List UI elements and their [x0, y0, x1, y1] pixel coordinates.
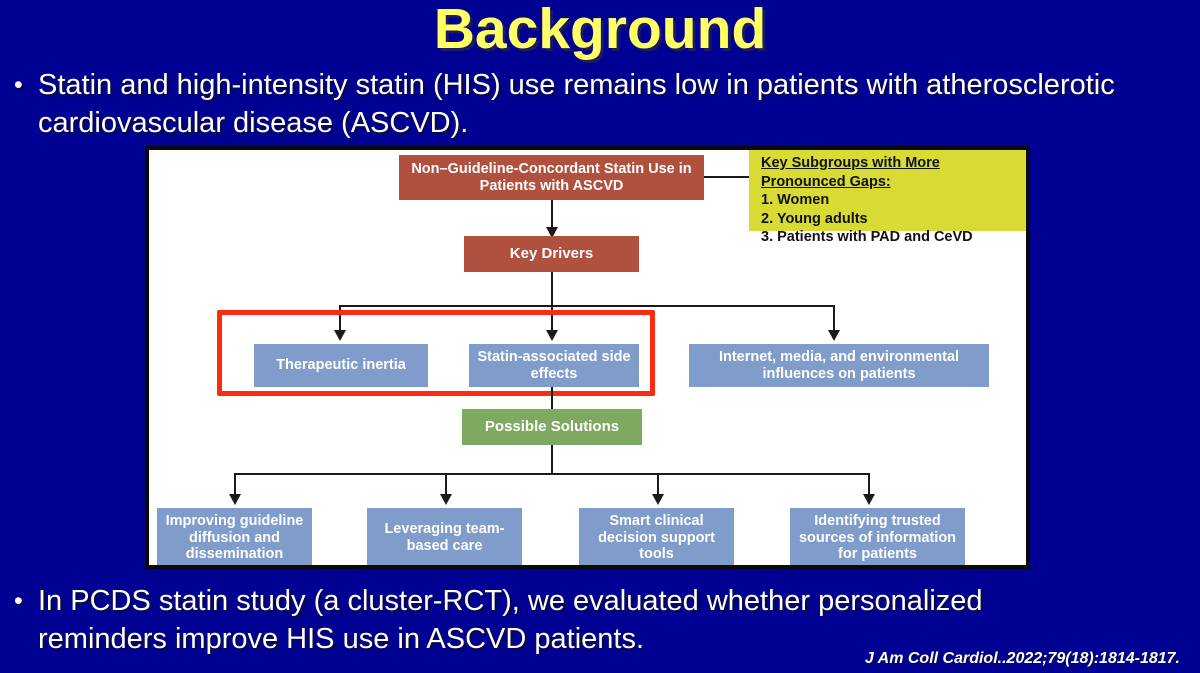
connector-solutions-bus [234, 473, 870, 475]
diagram-node-solution-1: Improving guideline diffusion and dissem… [157, 508, 312, 568]
diagram-panel: Non–Guideline-Concordant Statin Use in P… [145, 146, 1030, 569]
key-subgroups-item-2: 2. Young adults [761, 211, 868, 227]
arrow-solution-4 [863, 494, 875, 505]
bullet-text: Statin and high-intensity statin (HIS) u… [38, 66, 1194, 142]
diagram-node-key-drivers: Key Drivers [464, 236, 639, 272]
key-subgroups-heading: Key Subgroups with More Pronounced Gaps: [761, 154, 1025, 191]
connector-solutions-stem [551, 445, 553, 475]
diagram-node-key-subgroups: Key Subgroups with More Pronounced Gaps:… [749, 149, 1029, 231]
arrow-solution-3 [652, 494, 664, 505]
connector-key-drivers-stem [551, 272, 553, 307]
bullet-text: In PCDS statin study (a cluster-RCT), we… [38, 582, 1104, 658]
connector-drivers-bus [339, 305, 834, 307]
key-subgroups-item-3: 3. Patients with PAD and CeVD [761, 229, 973, 245]
diagram-node-solution-2: Leveraging team-based care [367, 508, 522, 568]
connector-root-to-sidebox [704, 176, 749, 178]
diagram-node-driver-2: Statin-associated side effects [469, 344, 639, 387]
diagram-node-driver-1: Therapeutic inertia [254, 344, 428, 387]
arrow-solution-2 [440, 494, 452, 505]
key-subgroups-item-1: 1. Women [761, 192, 829, 208]
diagram-node-solution-3: Smart clinical decision support tools [579, 508, 734, 568]
page-title: Background [0, 0, 1200, 62]
bullet-marker: • [4, 582, 38, 620]
diagram-node-root: Non–Guideline-Concordant Statin Use in P… [399, 155, 704, 200]
diagram-node-driver-3: Internet, media, and environmental influ… [689, 344, 989, 387]
bullet-item-2: • In PCDS statin study (a cluster-RCT), … [4, 582, 1104, 658]
citation-text: J Am Coll Cardiol..2022;79(18):1814-1817… [0, 650, 1180, 668]
bullet-marker: • [4, 66, 38, 104]
arrow-driver-3 [828, 330, 840, 341]
diagram-node-possible-solutions: Possible Solutions [462, 409, 642, 445]
diagram-node-solution-4: Identifying trusted sources of informati… [790, 508, 965, 568]
bullet-item-1: • Statin and high-intensity statin (HIS)… [4, 66, 1194, 142]
connector-driver-to-solutions [551, 387, 553, 409]
arrow-solution-1 [229, 494, 241, 505]
